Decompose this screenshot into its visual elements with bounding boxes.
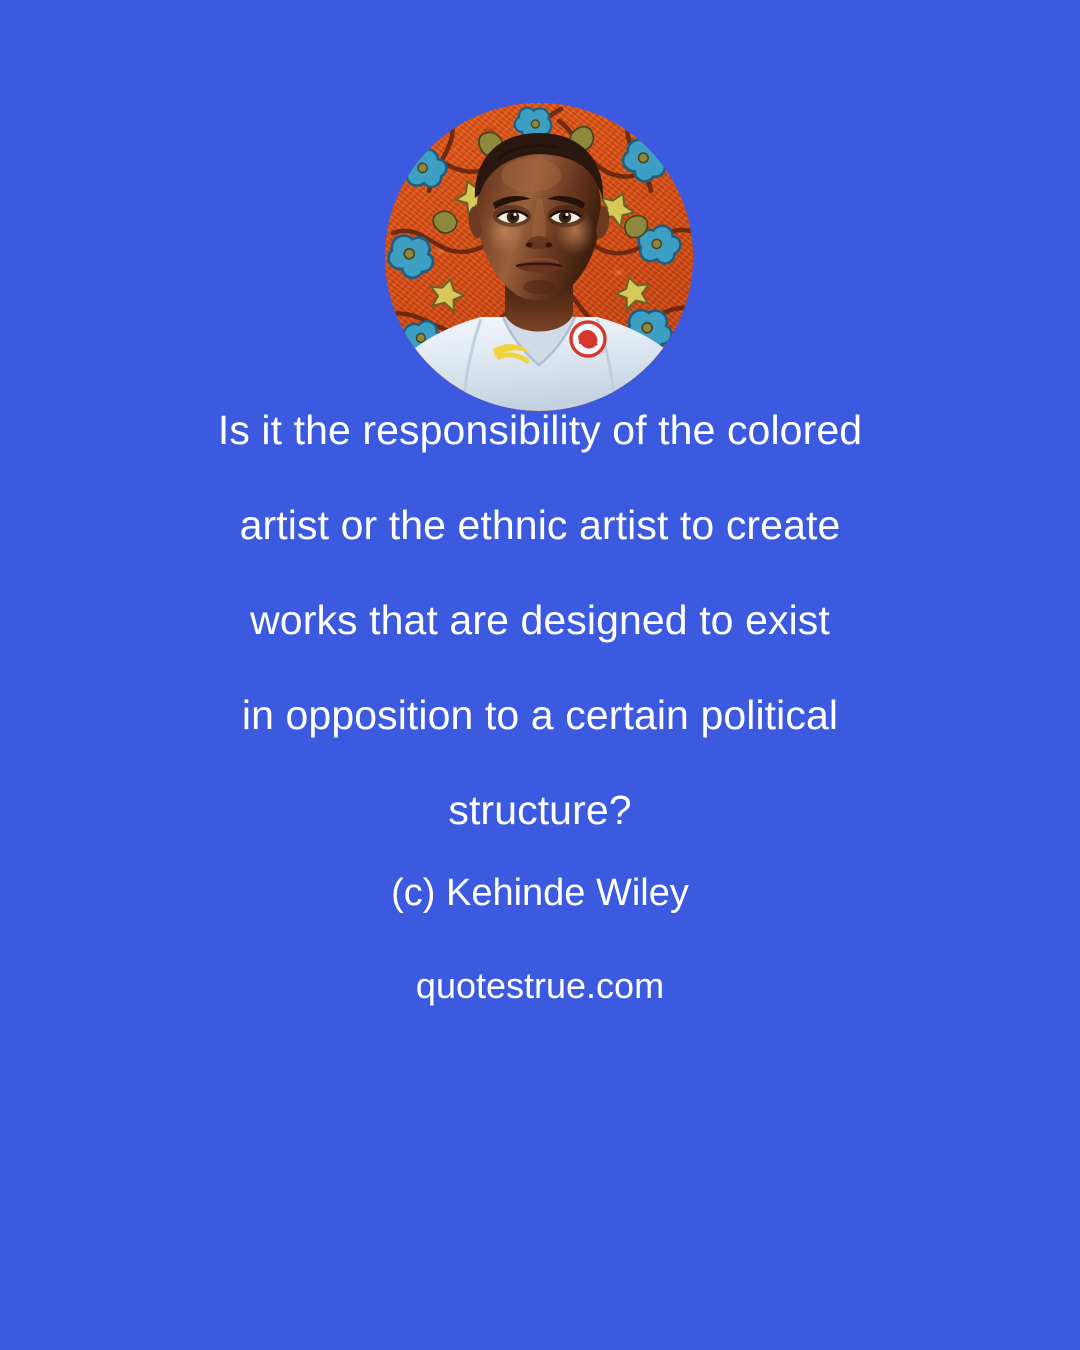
quote-line: Is it the responsibility of the colored [60,383,1020,478]
quote-line: artist or the ethnic artist to create [60,478,1020,573]
quote-attribution: (c) Kehinde Wiley [0,866,1080,920]
quote-line: structure? [60,763,1020,858]
quote-card: Is it the responsibility of the colored … [0,0,1080,1350]
avatar [385,103,693,411]
quote-line: works that are designed to exist [60,573,1020,668]
quote-text: Is it the responsibility of the colored … [0,383,1080,858]
jersey-crest-icon [571,322,605,356]
portrait-figure [385,103,693,411]
site-watermark: quotestrue.com [0,960,1080,1012]
quote-line: in opposition to a certain political [60,668,1020,763]
